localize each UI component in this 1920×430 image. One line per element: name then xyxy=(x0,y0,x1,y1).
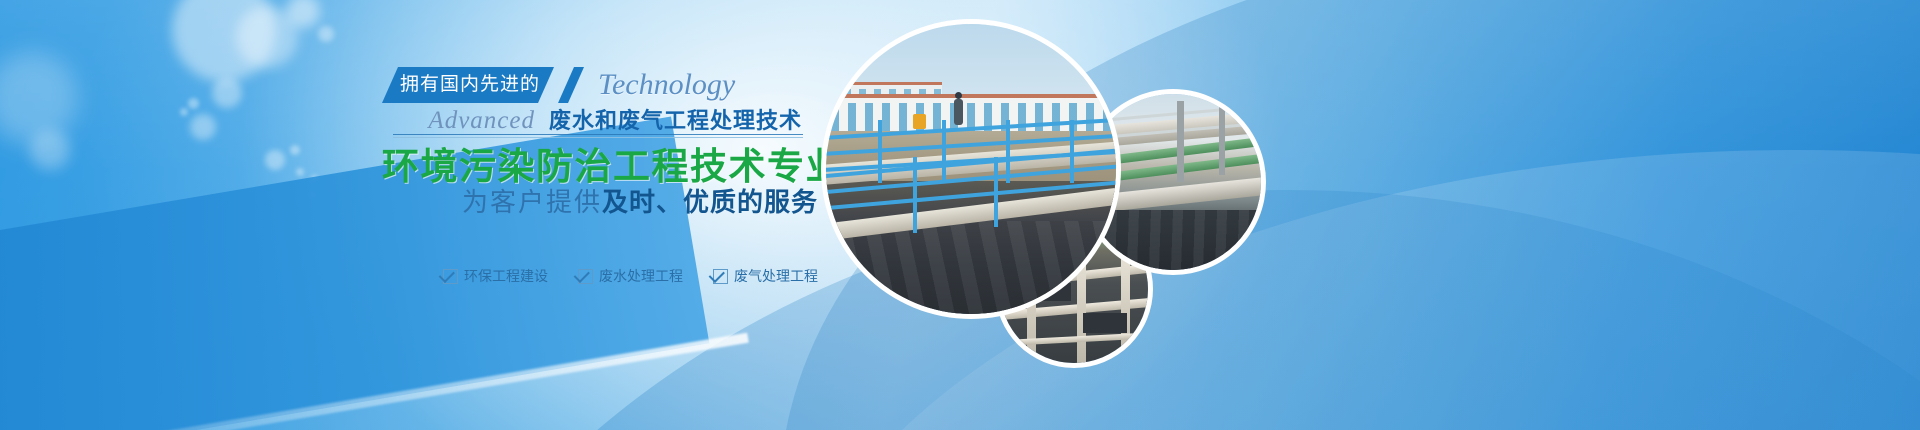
tagline-badge-tail xyxy=(558,67,584,103)
list-item: 环保工程建设 xyxy=(443,266,548,286)
feature-list: 环保工程建设 废水处理工程 废气处理工程 xyxy=(382,266,818,286)
list-item: 废水处理工程 xyxy=(578,266,683,286)
tagline-row: 拥有国内先进的 Technology xyxy=(382,67,735,105)
tagline-serif-word: Technology xyxy=(598,67,735,103)
headline-block: 拥有国内先进的 Technology Advanced 废水和废气工程处理技术 … xyxy=(0,0,830,430)
feature-label: 废水处理工程 xyxy=(599,266,683,286)
check-box-icon xyxy=(578,269,593,284)
subheadline-light: 为客户提供 xyxy=(462,187,602,217)
subheadline-bold: 及时、优质的服务 xyxy=(602,187,818,217)
subtitle-row: Advanced 废水和废气工程处理技术 xyxy=(382,103,802,135)
list-item: 废气处理工程 xyxy=(713,266,818,286)
feature-label: 废气处理工程 xyxy=(734,266,818,286)
feature-label: 环保工程建设 xyxy=(464,266,548,286)
subtitle-label: 废水和废气工程处理技术 xyxy=(549,103,802,135)
subtitle-serif-word: Advanced xyxy=(428,107,535,135)
subheadline: 为客户提供及时、优质的服务 xyxy=(382,182,818,219)
check-box-icon xyxy=(443,269,458,284)
wastewater-sedimentation-basin-photo xyxy=(826,24,1116,314)
tagline-badge: 拥有国内先进的 xyxy=(382,67,554,103)
check-box-icon xyxy=(713,269,728,284)
promo-banner: 拥有国内先进的 Technology Advanced 废水和废气工程处理技术 … xyxy=(0,0,1920,430)
